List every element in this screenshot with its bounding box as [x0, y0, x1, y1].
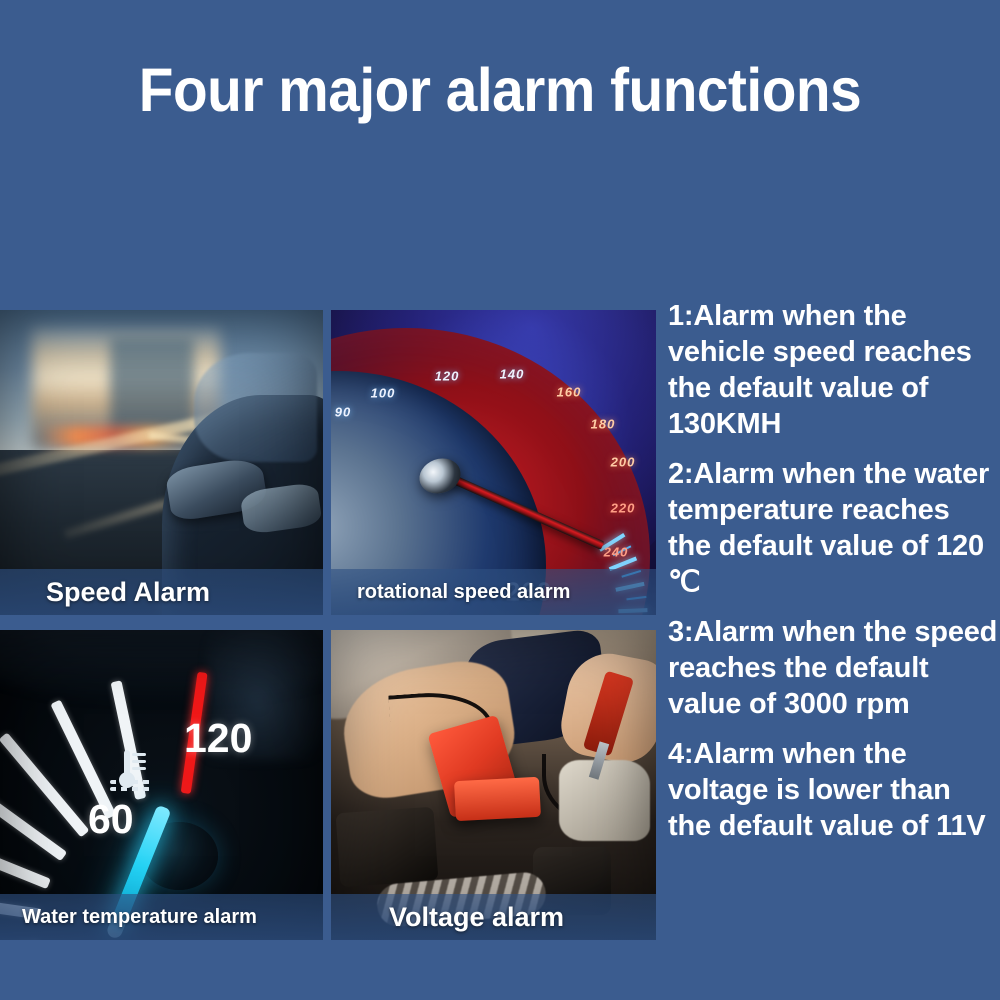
tick-label-200: 200 [611, 455, 636, 470]
tick-label-220: 220 [611, 501, 636, 516]
page-title: Four major alarm functions [35, 58, 965, 122]
panel-caption-rotational-speed-alarm: rotational speed alarm [331, 569, 656, 615]
panel-caption-water-temperature-alarm: Water temperature alarm [0, 894, 323, 940]
tick-label-140: 140 [500, 367, 525, 382]
tick-label-90: 90 [335, 405, 351, 420]
feature-item-1: 1:Alarm when the vehicle speed reaches t… [668, 298, 1000, 442]
panel-caption-speed-alarm: Speed Alarm [0, 569, 323, 615]
feature-item-4: 4:Alarm when the voltage is lower than t… [668, 736, 1000, 844]
feature-item-3: 3:Alarm when the speed reaches the defau… [668, 614, 1000, 722]
tick-label-160: 160 [557, 385, 582, 400]
panel-rotational-speed-alarm[interactable]: 90 100 120 140 160 180 200 220 240 260 r… [331, 310, 656, 615]
tick-label-180: 180 [591, 417, 616, 432]
panel-voltage-alarm[interactable]: Voltage alarm [331, 630, 656, 940]
tick-label-120: 120 [435, 369, 460, 384]
image-grid: Speed Alarm [0, 310, 656, 940]
feature-list: 1:Alarm when the vehicle speed reaches t… [668, 298, 1000, 844]
panel-water-temperature-alarm[interactable]: 120 60 Water temperature alarm [0, 630, 323, 940]
tick-label-240: 240 [604, 545, 629, 560]
promo-page: Four major alarm functions Speed Ala [0, 0, 1000, 1000]
panel-speed-alarm[interactable]: Speed Alarm [0, 310, 323, 615]
feature-item-2: 2:Alarm when the water temperature reach… [668, 456, 1000, 600]
panel-caption-voltage-alarm: Voltage alarm [331, 894, 656, 940]
tick-label-100: 100 [371, 386, 396, 401]
